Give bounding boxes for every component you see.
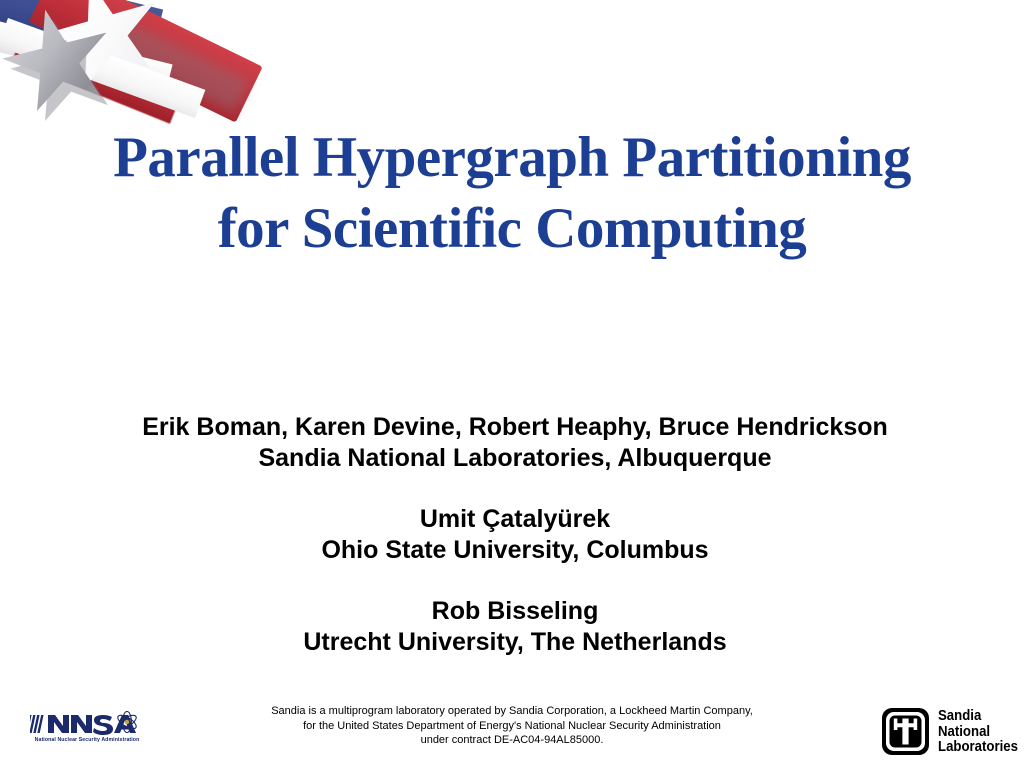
sandia-wordmark-line-3: Laboratories (938, 739, 1005, 755)
slide-footer: Sandia is a multiprogram laboratory oper… (0, 696, 1024, 768)
author-names: Erik Boman, Karen Devine, Robert Heaphy,… (0, 412, 1024, 443)
sandia-disclaimer: Sandia is a multiprogram laboratory oper… (197, 704, 827, 748)
white-ribbon-lower-decoration (0, 18, 205, 118)
disclaimer-line: Sandia is a multiprogram laboratory oper… (197, 704, 827, 719)
blue-ribbon-decoration (0, 0, 163, 74)
disclaimer-line: under contract DE-AC04-94AL85000. (197, 733, 827, 748)
slide-title: Parallel Hypergraph Partitioning for Sci… (0, 122, 1024, 264)
nnsa-atom-icon (30, 711, 142, 737)
disclaimer-line: for the United States Department of Ener… (197, 719, 827, 734)
nnsa-tagline: National Nuclear Security Administration (32, 737, 142, 743)
author-affiliation: Ohio State University, Columbus (0, 535, 1024, 566)
red-ribbon-lower-decoration (12, 36, 179, 124)
slide-title-line-1: Parallel Hypergraph Partitioning (0, 122, 1024, 193)
author-names: Rob Bisseling (0, 596, 1024, 627)
author-affiliation: Sandia National Laboratories, Albuquerqu… (0, 443, 1024, 474)
authors-block: Erik Boman, Karen Devine, Robert Heaphy,… (0, 412, 1024, 658)
white-star-icon (33, 0, 177, 104)
author-affiliation: Utrecht University, The Netherlands (0, 627, 1024, 658)
presentation-title-slide: Parallel Hypergraph Partitioning for Sci… (0, 0, 1024, 768)
sandia-wordmark: Sandia National Laboratories (938, 708, 1014, 755)
white-ribbon-upper-decoration (0, 4, 173, 94)
author-group: Rob Bisseling Utrecht University, The Ne… (0, 596, 1024, 658)
stars-and-ribbons-corner-graphic (0, 0, 300, 130)
author-group: Erik Boman, Karen Devine, Robert Heaphy,… (0, 412, 1024, 474)
slide-title-line-2: for Scientific Computing (0, 193, 1024, 264)
author-group: Umit Çatalyürek Ohio State University, C… (0, 504, 1024, 566)
sandia-wordmark-line-2: National (938, 724, 1005, 740)
star-shadow-decoration (0, 6, 133, 130)
nnsa-logo: National Nuclear Security Administration (30, 710, 142, 750)
silver-star-icon (0, 0, 125, 126)
sandia-logo: Sandia National Laboratories (882, 706, 1014, 758)
author-names: Umit Çatalyürek (0, 504, 1024, 535)
sandia-thunderbird-icon (882, 708, 929, 755)
ribbon-shadow-decoration (100, 15, 251, 113)
red-ribbon-decoration (29, 0, 263, 123)
sandia-wordmark-line-1: Sandia (938, 708, 1005, 724)
